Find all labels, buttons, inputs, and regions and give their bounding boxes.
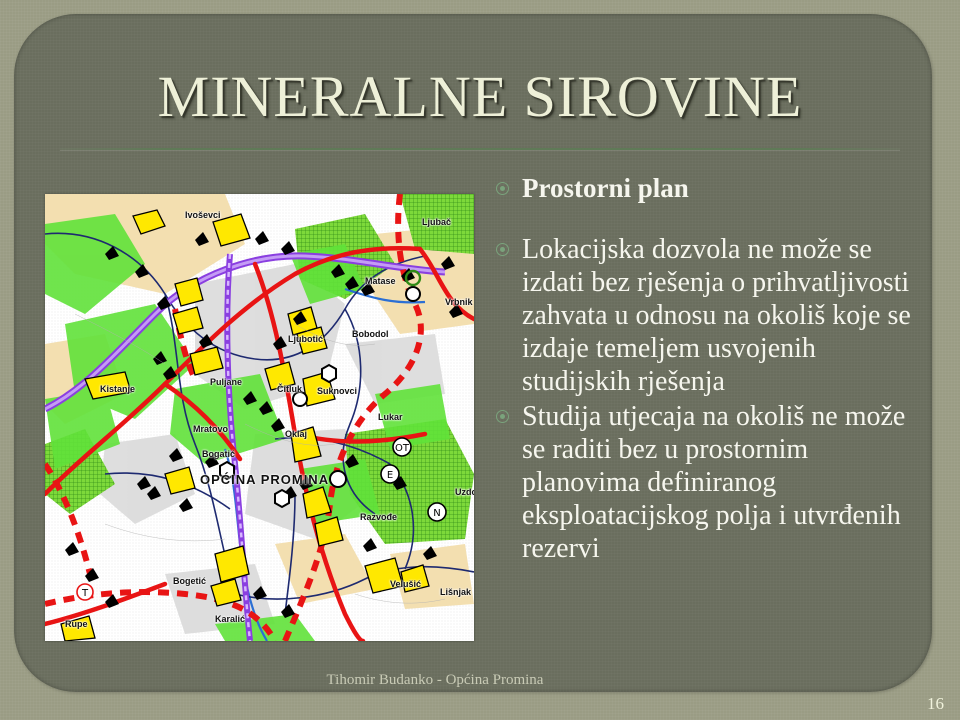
map-center-label: OPĆINA PROMINA — [200, 472, 329, 487]
map-label: Vrbnik — [445, 297, 473, 307]
bullet-list: Prostorni plan Lokacijska dozvola ne mož… — [496, 172, 916, 567]
map-label: Uzdolje — [455, 487, 474, 497]
map-label: Mratovo — [193, 424, 228, 434]
bullet-text: Studija utjecaja na okoliš ne može se ra… — [522, 400, 916, 565]
map-label: Suknovci — [317, 386, 357, 396]
svg-text:N: N — [433, 508, 440, 519]
ring-dot-bullet-icon — [496, 410, 522, 423]
map-label: Velušić — [390, 579, 421, 589]
map-label: Lišnjak — [440, 587, 471, 597]
map-label: Oklaj — [285, 429, 307, 439]
map-label: Lukar — [378, 412, 403, 422]
title-divider — [60, 148, 900, 150]
bullet-text: Prostorni plan — [522, 172, 916, 205]
map-label: Rupe — [65, 619, 88, 629]
bullet-text: Lokacijska dozvola ne može se izdati bez… — [522, 233, 916, 398]
page-title: MINERALNE SIROVINE — [0, 66, 960, 128]
map-graphic: E N OT T — [45, 194, 474, 641]
ring-dot-bullet-icon — [496, 243, 522, 256]
bullet-item-3: Studija utjecaja na okoliš ne može se ra… — [496, 400, 916, 565]
map-label: Ljubač — [422, 217, 451, 227]
slide-root: MINERALNE SIROVINE — [0, 0, 960, 720]
map-label: Razvođe — [360, 512, 397, 522]
map-label: Bobodol — [352, 329, 389, 339]
map-label: Bogetić — [173, 576, 206, 586]
map-label: Matase — [365, 276, 396, 286]
map-label: Kistanje — [100, 384, 135, 394]
ring-dot-bullet-icon — [496, 182, 522, 195]
map-label: Puljane — [210, 377, 242, 387]
map-label: Ljubotić — [288, 334, 323, 344]
svg-text:T: T — [81, 588, 89, 599]
slide-number: 16 — [927, 694, 944, 714]
map-label: Karalić — [215, 614, 245, 624]
svg-text:E: E — [387, 470, 393, 481]
bullet-item-1: Prostorni plan — [496, 172, 916, 205]
map-label: Čitluk — [277, 384, 302, 394]
map-label: Ivoševci — [185, 210, 221, 220]
map-image: E N OT T Ivoševci Ljubač Matase Vrbnik L… — [45, 194, 474, 641]
bullet-spacer — [496, 207, 916, 233]
svg-text:OT: OT — [395, 443, 410, 454]
bullet-item-2: Lokacijska dozvola ne može se izdati bez… — [496, 233, 916, 398]
slide-footer: Tihomir Budanko - Općina Promina — [0, 672, 870, 689]
map-label: Bogatić — [202, 449, 235, 459]
